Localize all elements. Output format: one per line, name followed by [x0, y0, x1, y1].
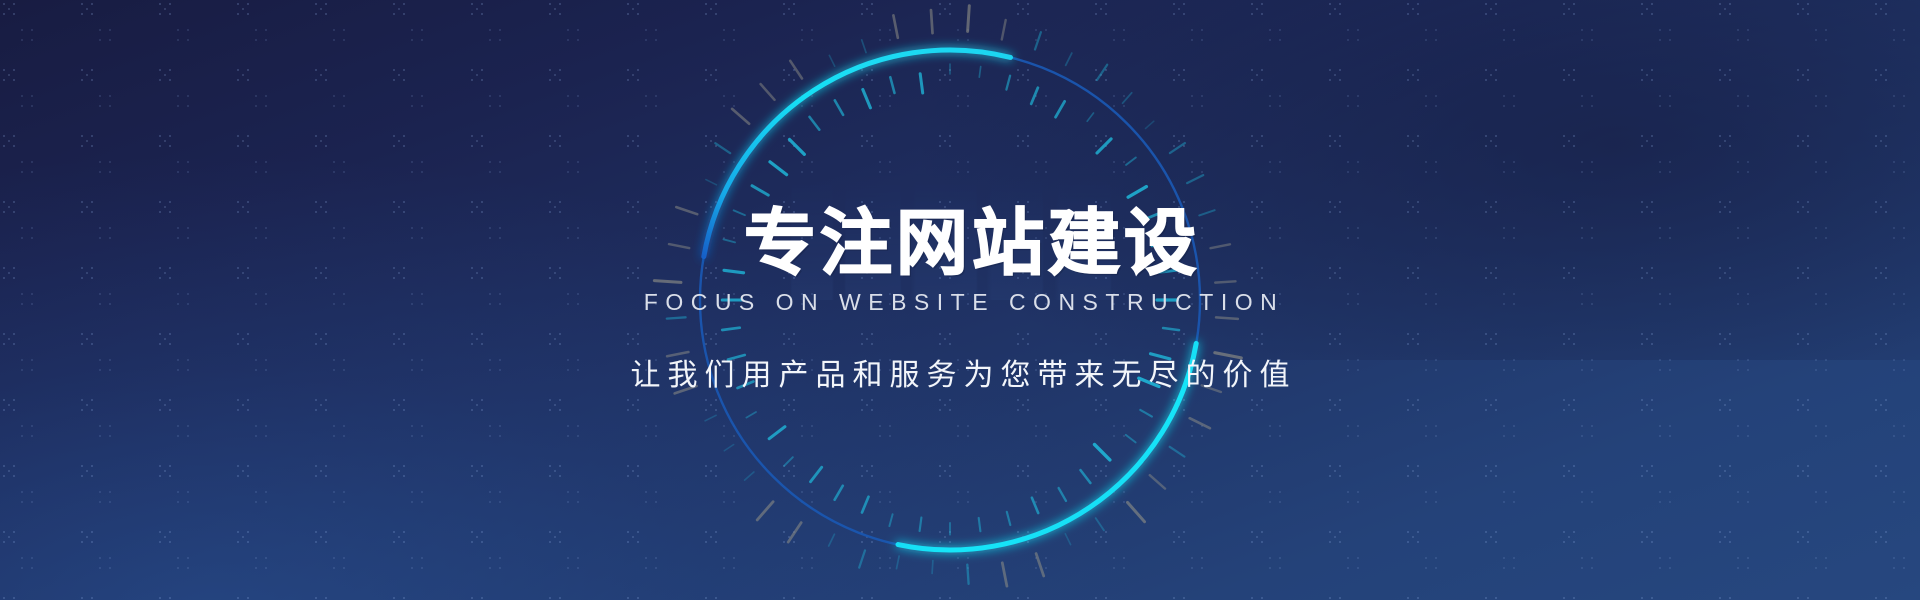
- page-title: 专注网站建设: [734, 207, 1200, 279]
- hero-banner: 专注网站建设 FOCUS ON WEBSITE CONSTRUCTION 让我们…: [0, 0, 1920, 600]
- banner-content: 专注网站建设 FOCUS ON WEBSITE CONSTRUCTION 让我们…: [0, 0, 1920, 600]
- tagline-chinese: 让我们用产品和服务为您带来无尽的价值: [624, 350, 1297, 394]
- subtitle-english: FOCUS ON WEBSITE CONSTRUCTION: [636, 289, 1284, 316]
